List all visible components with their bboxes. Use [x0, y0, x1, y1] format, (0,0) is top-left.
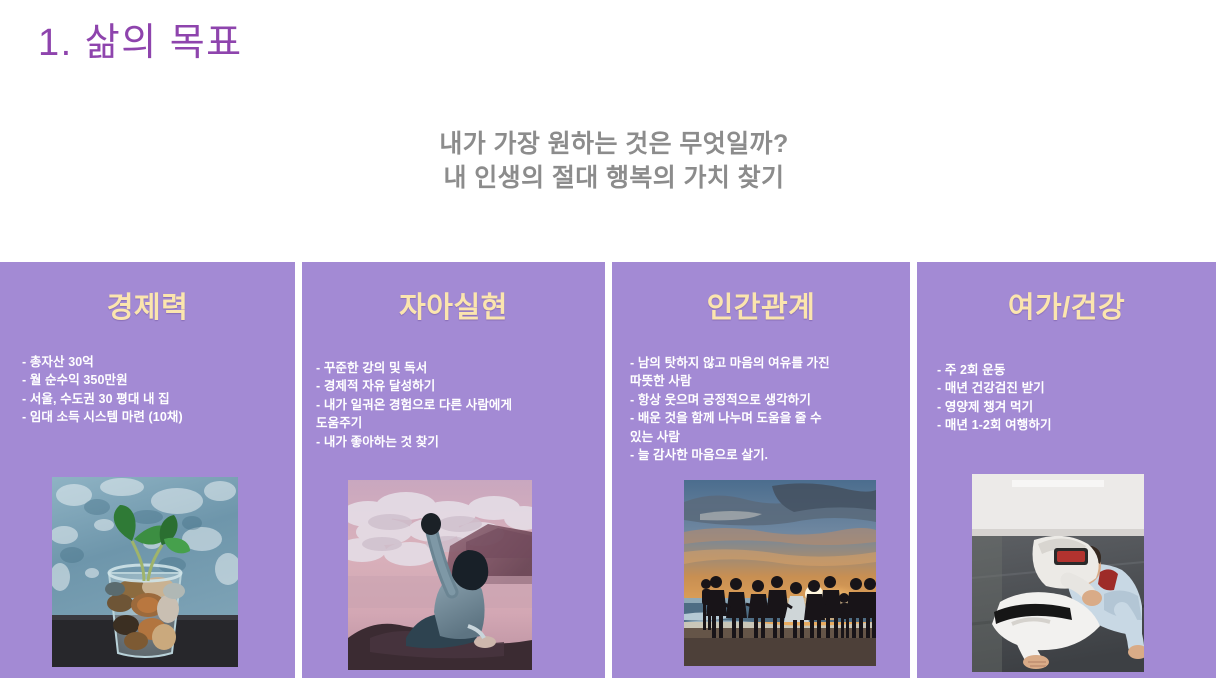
goal-panels-row: 경제력 - 총자산 30억 - 월 순수익 350만원 - 서울, 수도권 30…	[0, 262, 1216, 678]
bullet-item: - 늘 감사한 마음으로 살기.	[630, 446, 902, 464]
bullet-item: - 꾸준한 강의 및 독서	[316, 359, 595, 377]
coins-in-glass-with-sprout-photo	[52, 477, 238, 667]
bullet-item: - 매년 건강검진 받기	[937, 379, 1206, 397]
subtitle-block: 내가 가장 원하는 것은 무엇일까? 내 인생의 절대 행복의 가치 찾기	[0, 128, 1216, 195]
panel-heading-self-realization: 자아실현	[302, 284, 605, 326]
bullet-item: - 총자산 30억	[22, 353, 285, 371]
bullet-item: - 영양제 챙겨 먹기	[937, 398, 1206, 416]
bullet-item: - 임대 소득 시스템 마련 (10채)	[22, 408, 285, 426]
bullet-item: 있는 사람	[630, 428, 902, 446]
bullet-item: - 경제적 자유 달성하기	[316, 377, 595, 395]
panel-bullets-economy: - 총자산 30억 - 월 순수익 350만원 - 서울, 수도권 30 평대 …	[0, 353, 295, 427]
bullet-item: 도움주기	[316, 414, 595, 432]
goal-panel-economy: 경제력 - 총자산 30억 - 월 순수익 350만원 - 서울, 수도권 30…	[0, 262, 295, 678]
bullet-item: 따뜻한 사람	[630, 372, 902, 390]
panel-bullets-self-realization: - 꾸준한 강의 및 독서 - 경제적 자유 달성하기 - 내가 일궈온 경험으…	[302, 359, 605, 451]
subtitle-line-1: 내가 가장 원하는 것은 무엇일까?	[12, 128, 1216, 162]
jiu-jitsu-training-photo	[972, 474, 1144, 672]
goal-panel-leisure-health: 여가/건강 - 주 2회 운동 - 매년 건강검진 받기 - 영양제 챙겨 먹기…	[917, 262, 1216, 678]
bullet-item: - 주 2회 운동	[937, 361, 1206, 379]
person-raising-fist-above-clouds-photo	[348, 480, 532, 670]
slide-canvas: 1. 삶의 목표 내가 가장 원하는 것은 무엇일까? 내 인생의 절대 행복의…	[0, 0, 1216, 684]
panel-heading-leisure-health: 여가/건강	[917, 284, 1216, 326]
bullet-item: - 배운 것을 함께 나누며 도움을 줄 수	[630, 409, 902, 427]
subtitle-line-2: 내 인생의 절대 행복의 가치 찾기	[12, 162, 1216, 196]
bullet-item: - 서울, 수도권 30 평대 내 집	[22, 390, 285, 408]
panel-heading-relationships: 인간관계	[612, 284, 910, 326]
group-holding-hands-beach-sunset-photo	[684, 480, 876, 666]
photo-frame-relationships	[684, 480, 876, 666]
panel-bullets-relationships: - 남의 탓하지 않고 마음의 여유를 가진 따뜻한 사람 - 항상 웃으며 긍…	[612, 354, 910, 464]
panel-heading-economy: 경제력	[0, 284, 295, 326]
bullet-item: - 내가 좋아하는 것 찾기	[316, 433, 595, 451]
bullet-item: - 항상 웃으며 긍정적으로 생각하기	[630, 391, 902, 409]
panel-bullets-leisure-health: - 주 2회 운동 - 매년 건강검진 받기 - 영양제 챙겨 먹기 - 매년 …	[917, 361, 1216, 435]
photo-frame-leisure-health	[972, 474, 1144, 672]
bottom-white-strip	[0, 678, 1216, 684]
page-title: 1. 삶의 목표	[38, 20, 243, 68]
bullet-item: - 남의 탓하지 않고 마음의 여유를 가진	[630, 354, 902, 372]
photo-frame-self-realization	[348, 480, 532, 670]
bullet-item: - 월 순수익 350만원	[22, 371, 285, 389]
goal-panel-relationships: 인간관계 - 남의 탓하지 않고 마음의 여유를 가진 따뜻한 사람 - 항상 …	[612, 262, 910, 678]
photo-frame-economy	[52, 477, 238, 667]
bullet-item: - 매년 1-2회 여행하기	[937, 416, 1206, 434]
goal-panel-self-realization: 자아실현 - 꾸준한 강의 및 독서 - 경제적 자유 달성하기 - 내가 일궈…	[302, 262, 605, 678]
bullet-item: - 내가 일궈온 경험으로 다른 사람에게	[316, 396, 595, 414]
